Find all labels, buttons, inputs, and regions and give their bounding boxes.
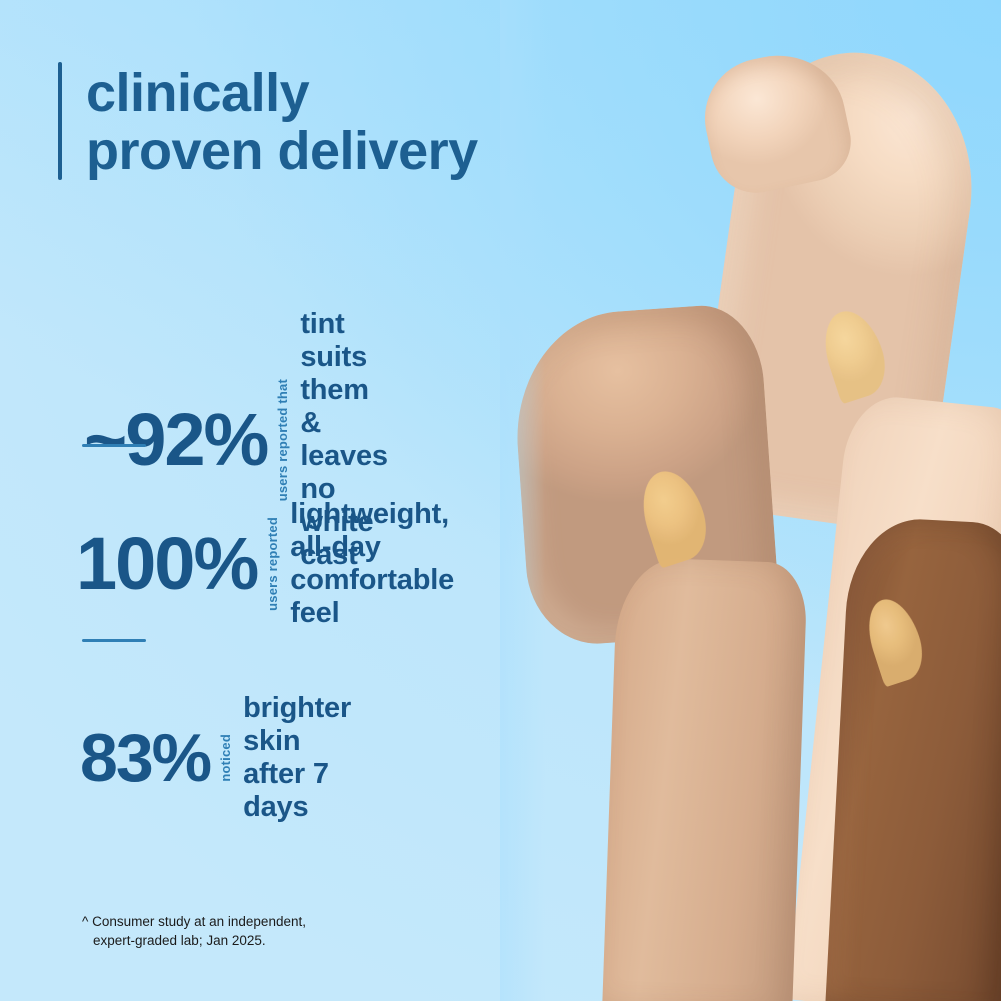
stat-qualifier: noticed bbox=[218, 734, 233, 782]
arm-deep bbox=[825, 516, 1001, 1001]
stat-item-83: 83% noticed brighter skin after 7 days bbox=[80, 692, 351, 824]
stat-description: lightweight, all-day comfortable feel bbox=[290, 498, 454, 630]
stat-description: brighter skin after 7 days bbox=[243, 692, 351, 824]
stat-qualifier: users reported bbox=[265, 517, 280, 611]
stat-value: ~92% bbox=[84, 403, 267, 477]
page-title: clinically proven delivery bbox=[86, 62, 478, 180]
hands-photo bbox=[500, 0, 1001, 1001]
headline-block: clinically proven delivery bbox=[58, 62, 478, 180]
stat-qualifier: users reported that bbox=[275, 379, 290, 501]
marketing-infographic: clinically proven delivery ~92% users re… bbox=[0, 0, 1001, 1001]
footnote: ^ Consumer study at an independent, expe… bbox=[82, 893, 306, 969]
stat-value: 100% bbox=[76, 527, 257, 601]
stat-item-100: 100% users reported lightweight, all-day… bbox=[76, 498, 454, 630]
stat-value: 83% bbox=[80, 724, 210, 792]
footnote-line-1: ^ Consumer study at an independent, bbox=[82, 914, 306, 929]
headline-accent-bar bbox=[58, 62, 62, 180]
footnote-line-2: expert-graded lab; Jan 2025. bbox=[82, 931, 306, 950]
stat-divider bbox=[82, 444, 146, 447]
arm-medium-tan-forearm bbox=[602, 557, 808, 1001]
stat-divider bbox=[82, 639, 146, 642]
